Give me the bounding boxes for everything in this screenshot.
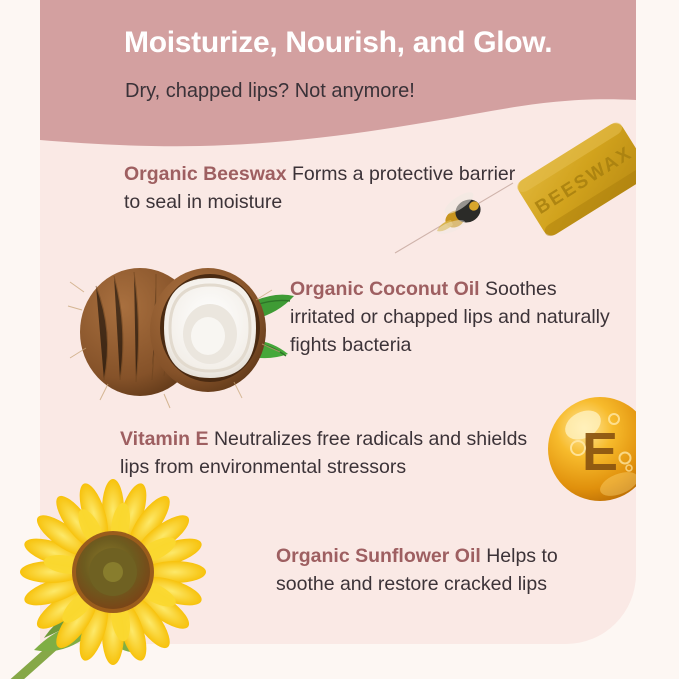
sunflower-icon	[0, 486, 245, 679]
ingredient-infographic: Moisturize, Nourish, and Glow. Dry, chap…	[0, 0, 679, 679]
beeswax-bar-icon: BEESWAX	[512, 112, 636, 247]
ingredient-text-sunflower: Organic Sunflower Oil Helps to soothe an…	[276, 542, 611, 598]
page-title: Moisturize, Nourish, and Glow.	[124, 26, 636, 61]
ingredient-text-vitamin-e: Vitamin E Neutralizes free radicals and …	[120, 425, 545, 481]
ingredient-name-sunflower: Organic Sunflower Oil	[276, 545, 481, 567]
ingredient-name-vitamin-e: Vitamin E	[120, 428, 209, 450]
capsule-letter: E	[582, 422, 618, 482]
ingredient-name-beeswax: Organic Beeswax	[124, 163, 287, 185]
ingredient-name-coconut: Organic Coconut Oil	[290, 278, 480, 300]
vitamin-e-capsule-icon: E	[543, 392, 636, 507]
ingredient-text-coconut: Organic Coconut Oil Soothes irritated or…	[290, 275, 620, 359]
page-subtitle: Dry, chapped lips? Not anymore!	[125, 79, 636, 103]
coconut-icon	[68, 248, 303, 408]
bee-icon	[395, 175, 515, 260]
